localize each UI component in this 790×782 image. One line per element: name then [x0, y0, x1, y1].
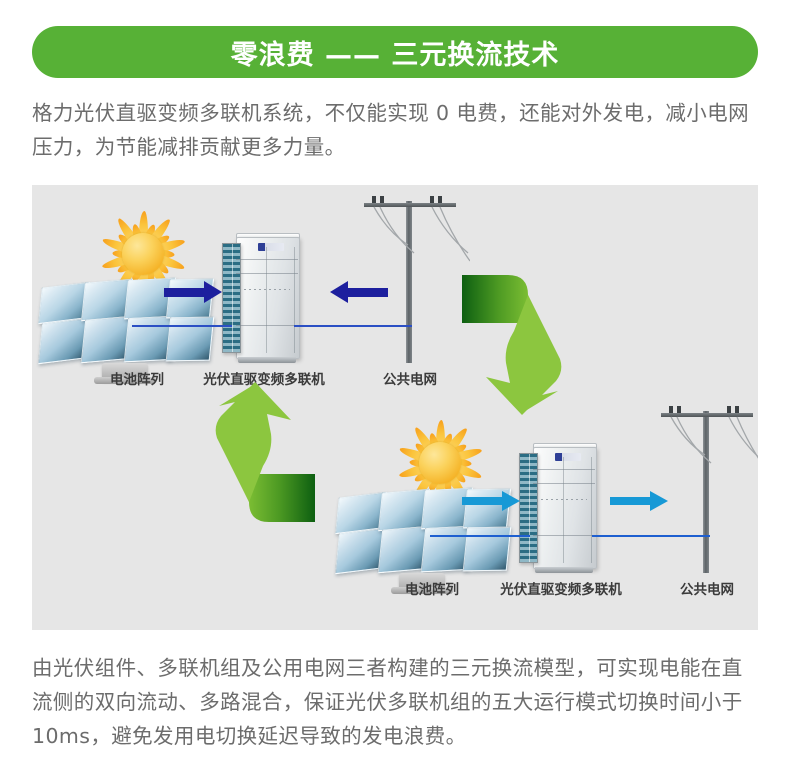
- page-title: 零浪费 —— 三元换流技术: [231, 33, 560, 72]
- vrf-unit-panel-divider: [294, 247, 295, 353]
- gree-logo-icon: [555, 453, 581, 461]
- utility-pole-insulator-icon: [735, 406, 739, 413]
- utility-pole-insulator-icon: [438, 196, 442, 203]
- arrow-shaft: [348, 288, 388, 297]
- utility-pole-insulator-icon: [677, 406, 681, 413]
- vrf-unit-vent-dots: [541, 499, 587, 500]
- cycle-arrow-up: [197, 380, 317, 530]
- sun-core-icon: [122, 233, 164, 275]
- power-lines: [647, 413, 758, 503]
- closing-paragraph: 由光伏组件、多联机组及公用电网三者构建的三元换流模型，可实现电能在直流侧的双向流…: [32, 651, 762, 753]
- utility-pole-insulator-icon: [372, 196, 376, 203]
- vrf-unit-seam: [236, 273, 298, 274]
- caption-grid-row2: 公共电网: [617, 578, 758, 598]
- solar-panel-cell: [166, 317, 215, 361]
- header-banner: 零浪费 —— 三元换流技术: [32, 26, 758, 78]
- intro-paragraph: 格力光伏直驱变频多联机系统，不仅能实现 0 电费，还能对外发电，减小电网压力，为…: [32, 96, 762, 164]
- vrf-unit-seam: [236, 259, 298, 260]
- cycle-arrow-down: [460, 267, 580, 417]
- utility-pole: [350, 193, 470, 363]
- dc-bus-line-2: [430, 535, 530, 537]
- arrow-head: [204, 281, 222, 303]
- vrf-outdoor-unit: [222, 233, 298, 361]
- page-root: 零浪费 —— 三元换流技术 格力光伏直驱变频多联机系统，不仅能实现 0 电费，还…: [0, 0, 790, 782]
- sun-core-icon: [419, 442, 461, 484]
- arrow-shaft: [610, 497, 650, 505]
- ac-bus-line-2: [592, 535, 710, 537]
- utility-pole-insulator-icon: [380, 196, 384, 203]
- diagram-panel: 电池阵列光伏直驱变频多联机公共电网电池阵列光伏直驱变频多联机公共电网: [32, 185, 758, 630]
- vrf-unit-seam: [236, 325, 298, 326]
- vrf-outdoor-unit: [519, 443, 595, 571]
- arrow-head: [650, 491, 668, 511]
- vrf-unit-seam: [533, 483, 595, 484]
- dc-bus-line: [132, 325, 232, 327]
- utility-pole-insulator-icon: [669, 406, 673, 413]
- ac-bus-line: [294, 325, 412, 327]
- vrf-unit-seam: [533, 535, 595, 536]
- vrf-unit-seam: [533, 469, 595, 470]
- arrow-head: [330, 281, 348, 303]
- arrow-shaft: [462, 497, 502, 505]
- utility-pole-insulator-icon: [430, 196, 434, 203]
- gree-logo-icon: [258, 243, 284, 251]
- vrf-unit-panel-divider: [266, 247, 267, 353]
- solar-panel-cell: [463, 527, 512, 571]
- vrf-unit-vent-dots: [244, 289, 290, 290]
- power-lines: [350, 203, 470, 293]
- vrf-unit-body: [236, 237, 300, 359]
- vrf-unit-body: [533, 447, 597, 569]
- vrf-unit-base: [535, 567, 593, 573]
- arrow-shaft: [164, 288, 204, 297]
- arrow-head: [502, 491, 520, 511]
- utility-pole: [647, 403, 758, 573]
- vrf-unit-panel-divider: [563, 457, 564, 563]
- utility-pole-insulator-icon: [727, 406, 731, 413]
- vrf-unit-base: [238, 357, 296, 363]
- vrf-unit-panel-divider: [591, 457, 592, 563]
